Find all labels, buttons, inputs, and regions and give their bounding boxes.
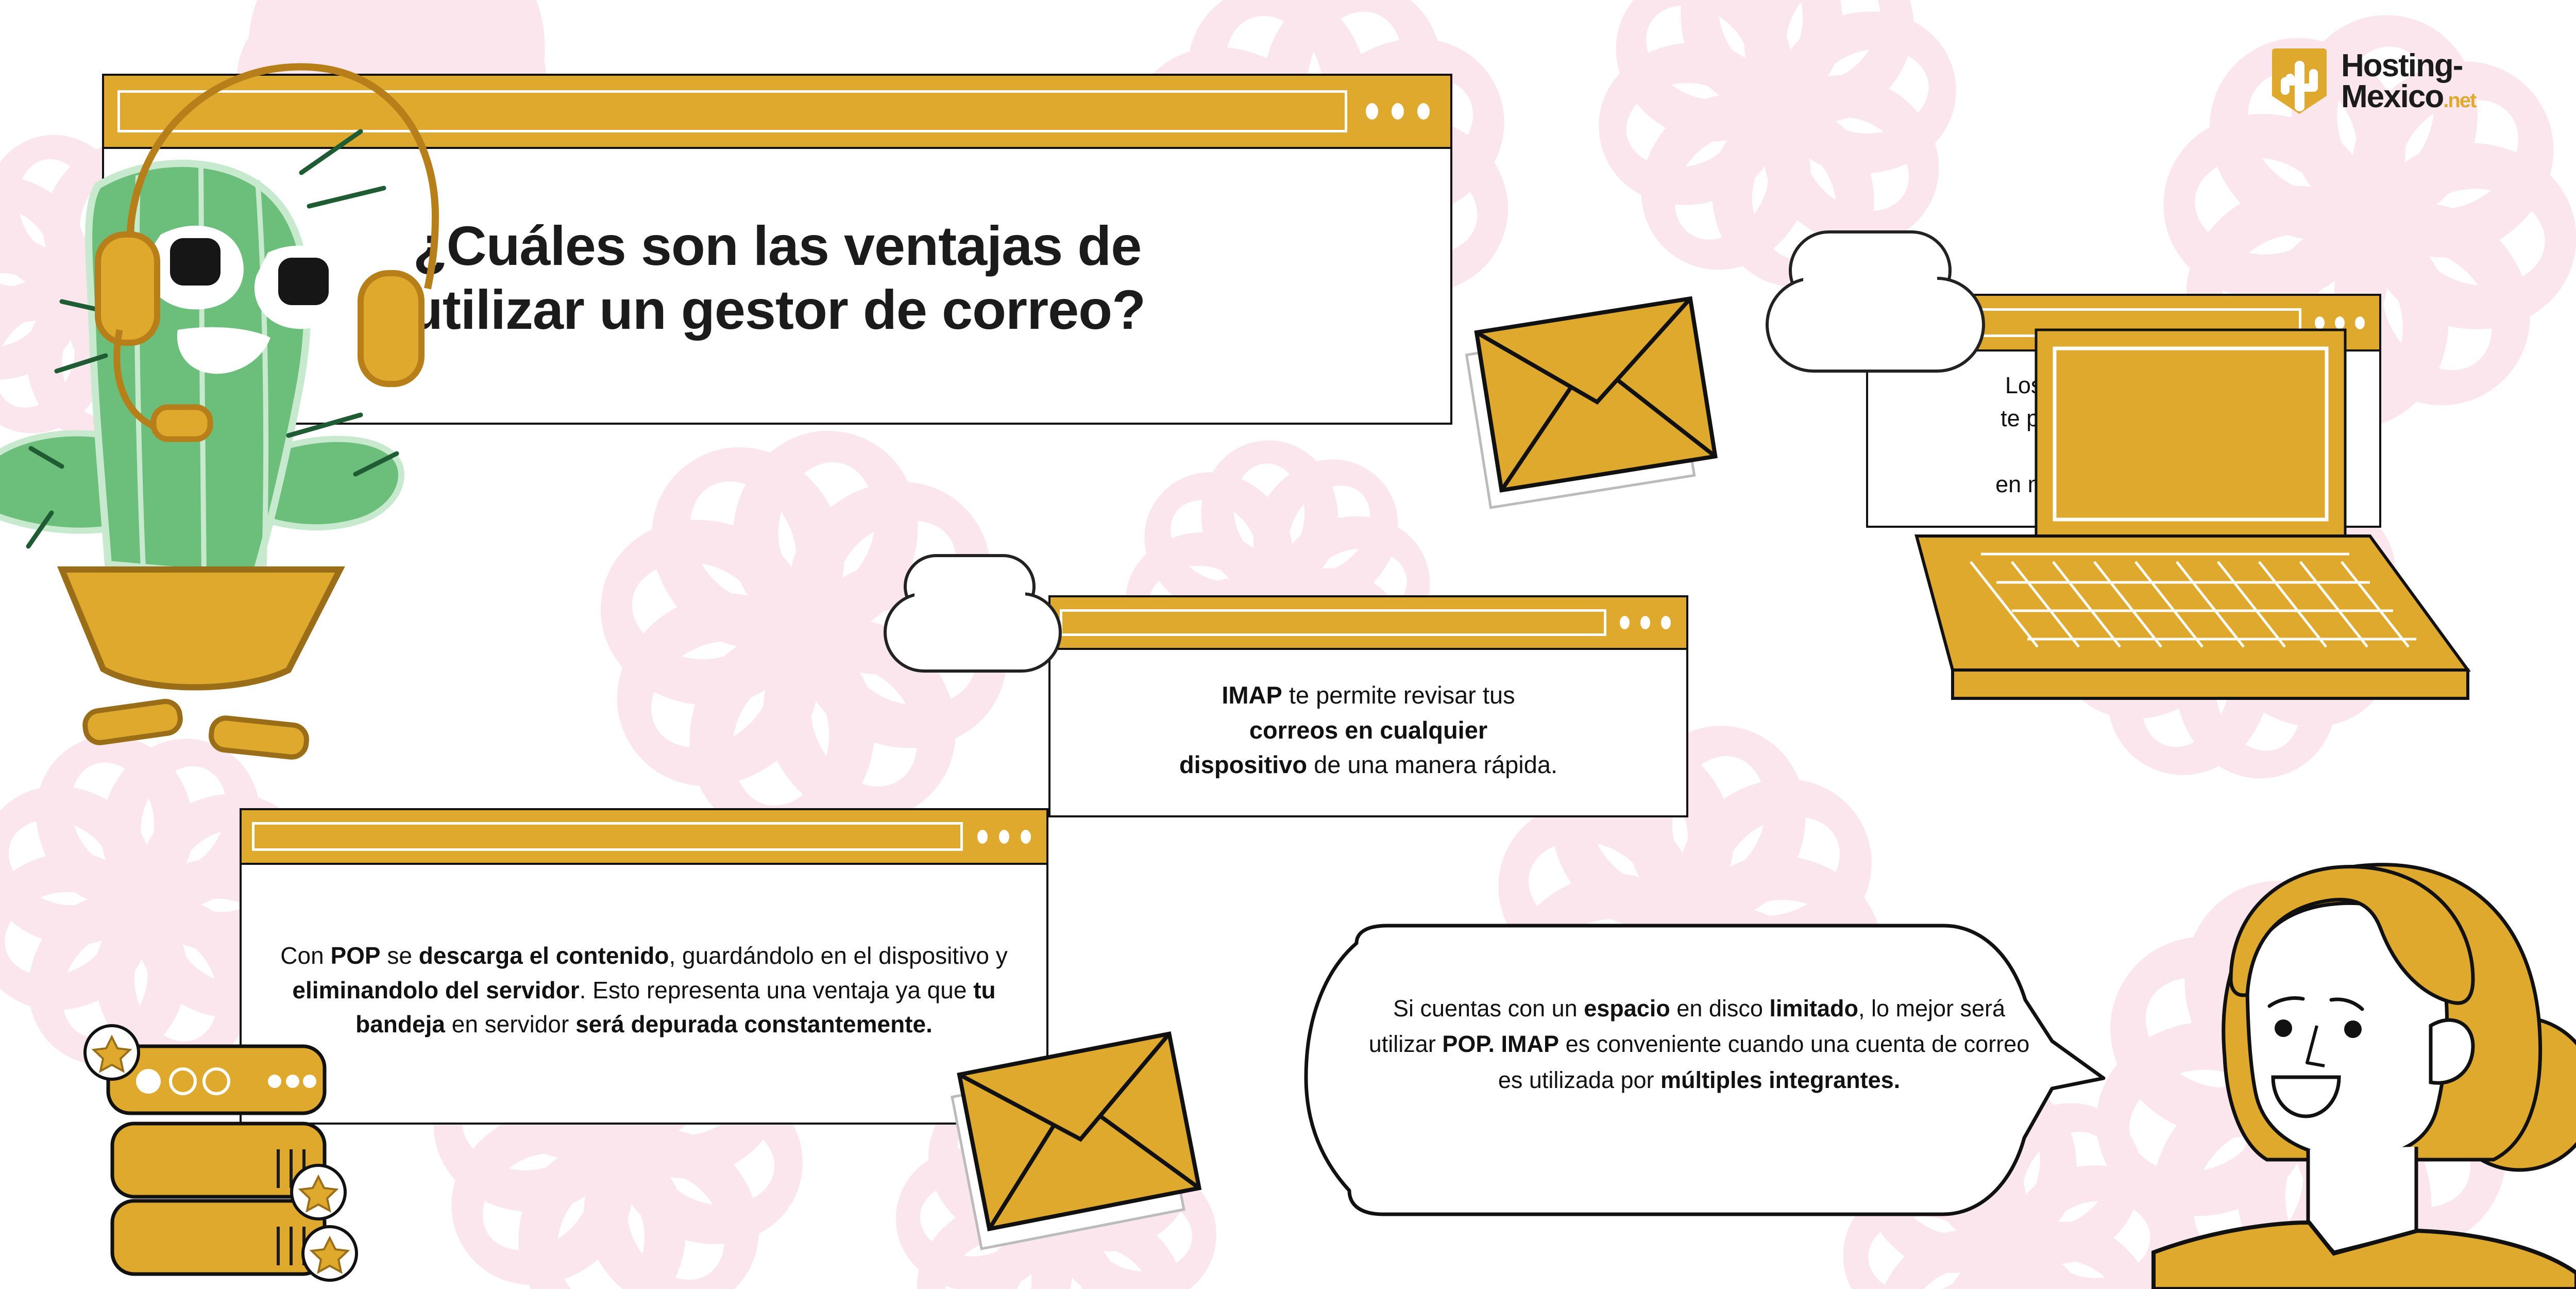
infographic-canvas: ¿Cuáles son las ventajas de utilizar un … xyxy=(0,0,2576,1289)
logo-line-1: Hosting- xyxy=(2341,51,2476,81)
envelope-icon xyxy=(1463,298,1718,508)
logo-tld: .net xyxy=(2443,89,2476,112)
logo-wordmark: Hosting- Mexico.net xyxy=(2341,51,2476,112)
logo-line-2: Mexico.net xyxy=(2341,81,2476,112)
illustrations-front xyxy=(0,0,2576,1289)
cactus-shield-icon xyxy=(2271,46,2328,116)
brand-logo[interactable]: Hosting- Mexico.net xyxy=(2271,39,2539,124)
envelope-icon xyxy=(948,1034,1202,1249)
